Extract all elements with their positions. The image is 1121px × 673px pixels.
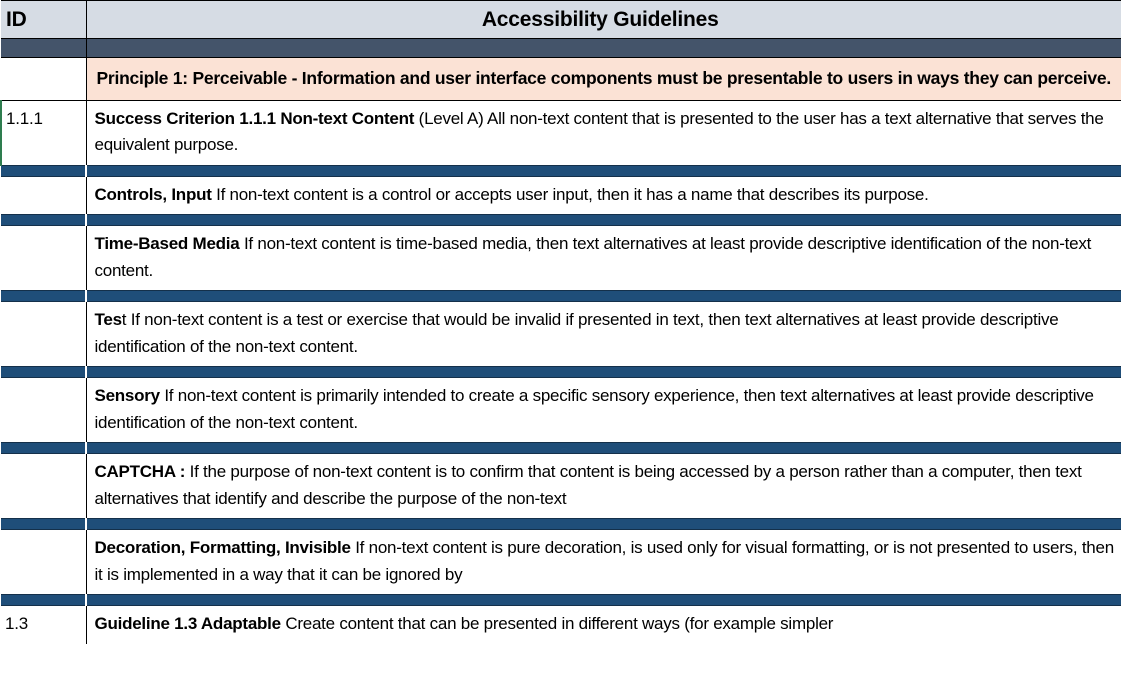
row-separator-text [86, 595, 1121, 606]
table-row[interactable]: Time-Based Media If non-text content is … [1, 226, 1121, 291]
row-separator-bar [1, 367, 1121, 378]
row-id-cell[interactable] [1, 530, 86, 595]
header-accent-bar-id [1, 39, 86, 58]
table-row[interactable]: Decoration, Formatting, Invisible If non… [1, 530, 1121, 595]
row-id-cell[interactable] [1, 226, 86, 291]
column-header-title: Accessibility Guidelines [86, 1, 1121, 39]
guidelines-sheet: ID Accessibility Guidelines Principle 1:… [0, 0, 1121, 673]
table-row[interactable]: Sensory If non-text content is primarily… [1, 378, 1121, 443]
row-separator-bar [1, 165, 1121, 176]
principle-row: Principle 1: Perceivable - Information a… [1, 58, 1121, 101]
row-text-cell[interactable]: Sensory If non-text content is primarily… [86, 378, 1121, 443]
row-separator-text [86, 215, 1121, 226]
row-separator-id [1, 291, 86, 302]
row-text-rest: Create content that can be presented in … [281, 614, 833, 633]
row-separator-text [86, 291, 1121, 302]
row-text-bold: Sensory [95, 386, 160, 405]
row-text-cell[interactable]: Decoration, Formatting, Invisible If non… [86, 530, 1121, 595]
row-text-bold: Controls, Input [95, 185, 212, 204]
row-id-cell[interactable] [1, 454, 86, 519]
table-header-row: ID Accessibility Guidelines [1, 1, 1121, 39]
row-separator-id [1, 215, 86, 226]
row-text-bold: Decoration, Formatting, Invisible [95, 538, 351, 557]
row-separator-bar [1, 595, 1121, 606]
row-text-bold: Time-Based Media [95, 234, 240, 253]
row-id-cell[interactable] [1, 302, 86, 367]
row-separator-id [1, 367, 86, 378]
row-text-cell[interactable]: Time-Based Media If non-text content is … [86, 226, 1121, 291]
row-separator-bar [1, 443, 1121, 454]
row-text-rest: t If non-text content is a test or exerc… [95, 310, 1059, 356]
table-row[interactable]: 1.1.1 Success Criterion 1.1.1 Non-text C… [1, 100, 1121, 165]
row-id-cell[interactable] [1, 378, 86, 443]
table-row[interactable]: Controls, Input If non-text content is a… [1, 176, 1121, 215]
row-separator-id [1, 595, 86, 606]
row-separator-text [86, 165, 1121, 176]
row-separator-text [86, 519, 1121, 530]
column-header-id: ID [1, 1, 86, 39]
accessibility-guidelines-table: ID Accessibility Guidelines Principle 1:… [0, 0, 1121, 644]
row-text-bold: Guideline 1.3 Adaptable [95, 614, 281, 633]
row-text-rest: If the purpose of non-text content is to… [95, 462, 1082, 508]
row-text-cell[interactable]: CAPTCHA : If the purpose of non-text con… [86, 454, 1121, 519]
row-text-rest: If non-text content is time-based media,… [95, 234, 1092, 280]
row-separator-bar [1, 291, 1121, 302]
row-separator-bar [1, 215, 1121, 226]
row-separator-id [1, 443, 86, 454]
row-separator-text [86, 443, 1121, 454]
row-text-cell[interactable]: Test If non-text content is a test or ex… [86, 302, 1121, 367]
row-id-cell[interactable] [1, 176, 86, 215]
row-text-cell[interactable]: Success Criterion 1.1.1 Non-text Content… [86, 100, 1121, 165]
header-accent-bar-text [86, 39, 1121, 58]
row-text-cell[interactable]: Controls, Input If non-text content is a… [86, 176, 1121, 215]
row-text-rest: If non-text content is primarily intende… [95, 386, 1094, 432]
principle-id-cell [1, 58, 86, 101]
row-separator-id [1, 519, 86, 530]
table-row[interactable]: CAPTCHA : If the purpose of non-text con… [1, 454, 1121, 519]
row-text-bold: Tes [95, 310, 122, 329]
table-row[interactable]: 1.3 Guideline 1.3 Adaptable Create conte… [1, 606, 1121, 644]
row-id-cell[interactable]: 1.3 [1, 606, 86, 644]
row-separator-bar [1, 519, 1121, 530]
row-text-cell[interactable]: Guideline 1.3 Adaptable Create content t… [86, 606, 1121, 644]
row-text-bold: CAPTCHA : [95, 462, 186, 481]
row-separator-text [86, 367, 1121, 378]
row-separator-id [1, 165, 86, 176]
header-accent-bar-row [1, 39, 1121, 58]
principle-text-cell: Principle 1: Perceivable - Information a… [86, 58, 1121, 101]
row-id-cell[interactable]: 1.1.1 [1, 100, 86, 165]
row-text-bold: Success Criterion 1.1.1 Non-text Content [95, 109, 415, 128]
table-row[interactable]: Test If non-text content is a test or ex… [1, 302, 1121, 367]
row-text-rest: If non-text content is a control or acce… [212, 185, 929, 204]
